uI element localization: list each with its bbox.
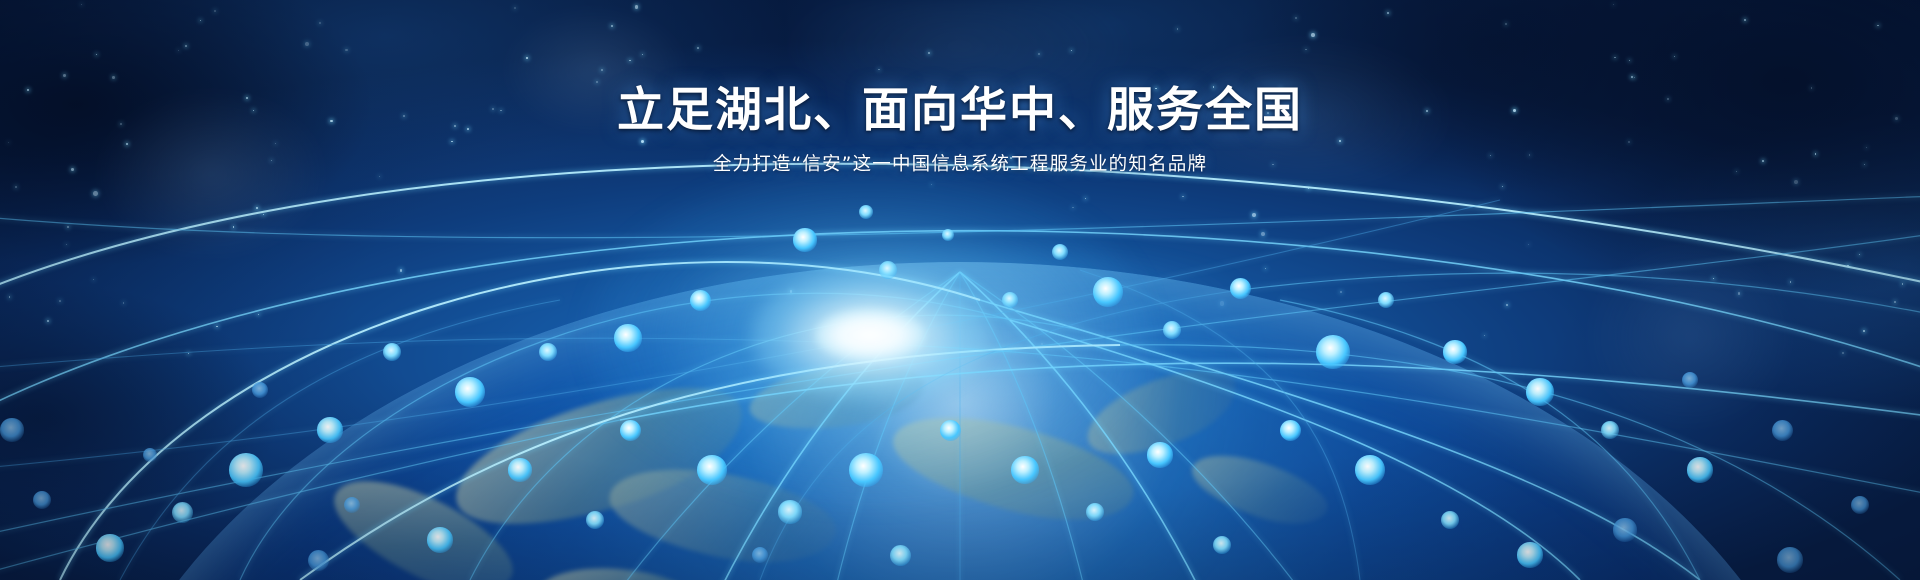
banner-text-block: 立足湖北、面向华中、服务全国 全力打造“信安”这一中国信息系统工程服务业的知名品… [0, 86, 1920, 177]
hero-banner: 立足湖北、面向华中、服务全国 全力打造“信安”这一中国信息系统工程服务业的知名品… [0, 0, 1920, 580]
banner-headline: 立足湖北、面向华中、服务全国 [0, 86, 1920, 137]
banner-subheadline: 全力打造“信安”这一中国信息系统工程服务业的知名品牌 [0, 153, 1920, 177]
